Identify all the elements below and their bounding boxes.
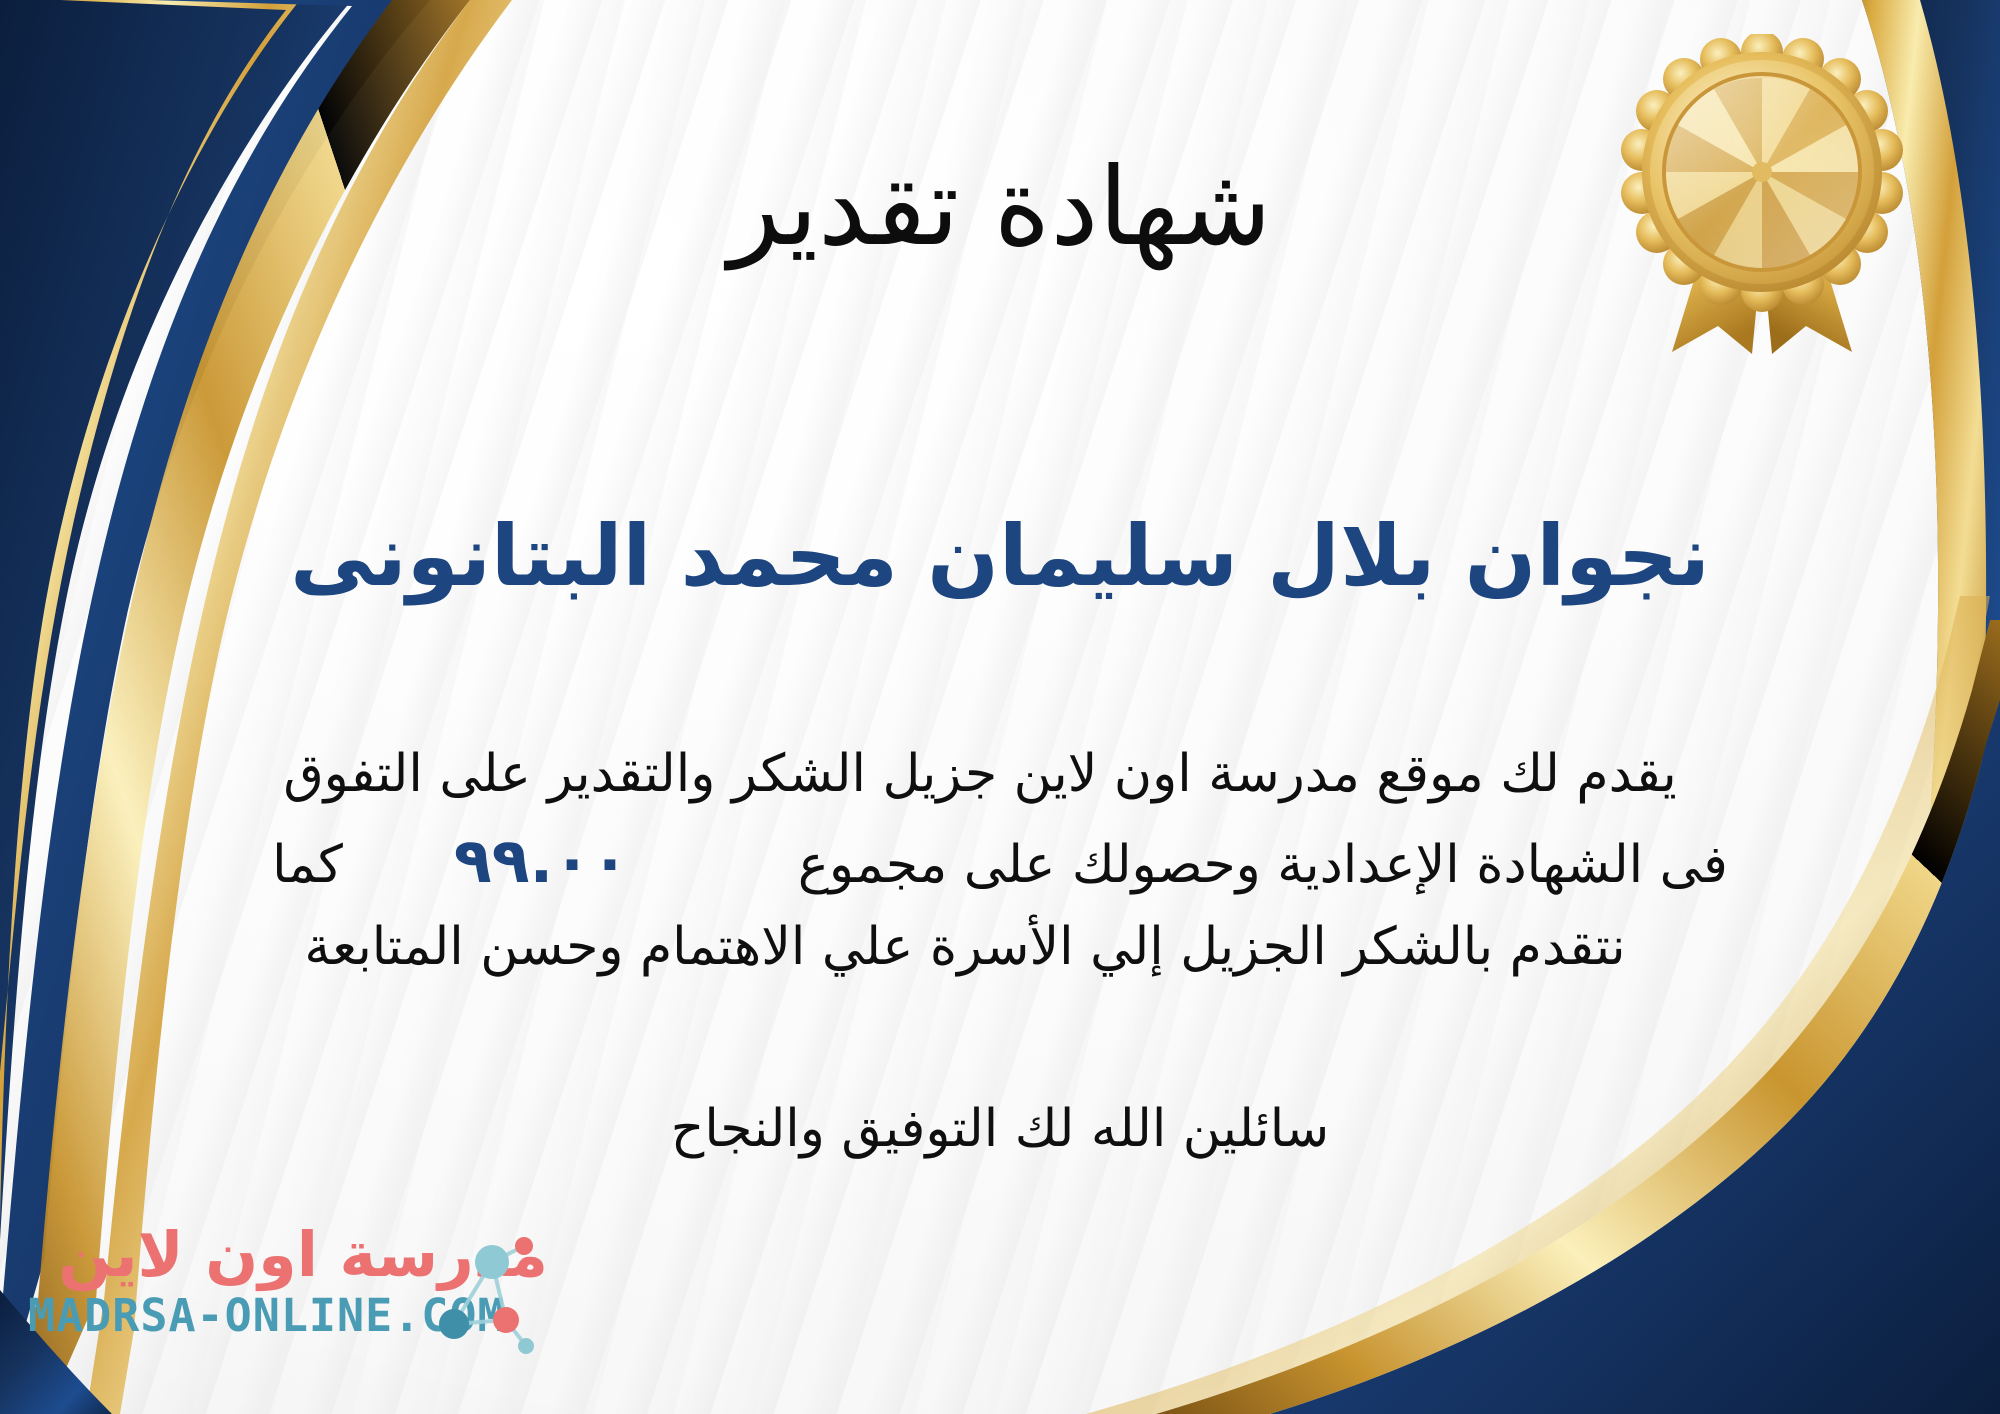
body-line-2-suffix: كما [272,835,343,895]
brand-logo[interactable]: مدرسة اون لاين MADRSA-ONLINE.COM [28,1222,548,1372]
body-line-2-prefix: فى الشهادة الإعدادية وحصولك على مجموع [798,835,1728,895]
certificate-canvas: شهادة تقدير نجوان بلال سليمان محمد البتا… [0,0,2000,1414]
certificate-content: شهادة تقدير نجوان بلال سليمان محمد البتا… [170,0,1830,1414]
page-title: شهادة تقدير [170,150,1830,267]
certificate-body: يقدم لك موقع مدرسة اون لاين جزيل الشكر و… [100,735,1900,987]
body-line-2: فى الشهادة الإعدادية وحصولك على مجموع ٩٩… [100,814,1900,908]
recipient-name: نجوان بلال سليمان محمد البتانونى [170,510,1830,602]
score-value: ٩٩.٠٠ [428,824,655,897]
closing-line: سائلين الله لك التوفيق والنجاح [170,1090,1830,1168]
body-line-1: يقدم لك موقع مدرسة اون لاين جزيل الشكر و… [100,735,1900,814]
body-line-3: نتقدم بالشكر الجزيل إلي الأسرة علي الاهت… [100,908,1900,987]
network-nodes-icon [430,1228,542,1360]
